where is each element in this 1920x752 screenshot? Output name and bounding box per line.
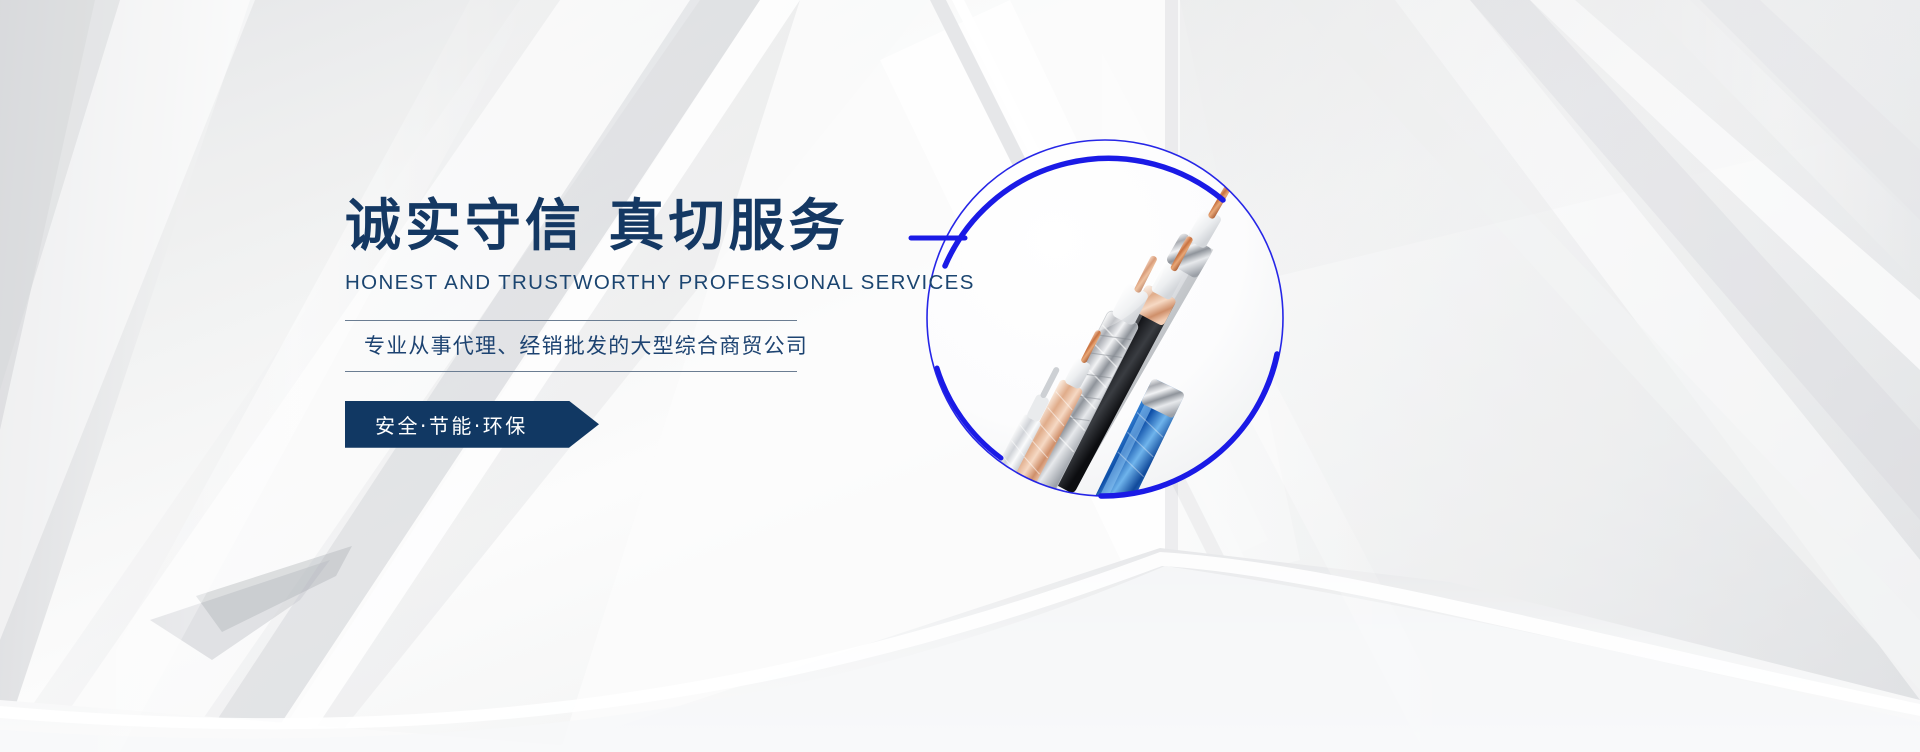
hero-subtitle-english: HONEST AND TRUSTWORTHY PROFESSIONAL SERV… [345,271,865,295]
status-badge-label: 安全·节能·环保 [345,410,528,439]
status-badge: 安全·节能·环保 [345,401,599,448]
hero-copy: 诚实守信 真切服务 HONEST AND TRUSTWORTHY PROFESS… [345,196,865,448]
product-circle: RG6 CCS [905,118,1305,518]
page-title: 诚实守信 真切服务 [345,196,865,259]
blue-ring-accent [905,118,1305,518]
hero-tagline-rule: 专业从事代理、经销批发的大型综合商贸公司 [345,320,797,372]
hero-tagline: 专业从事代理、经销批发的大型综合商贸公司 [345,330,797,360]
hero-banner: 诚实守信 真切服务 HONEST AND TRUSTWORTHY PROFESS… [0,0,1920,752]
